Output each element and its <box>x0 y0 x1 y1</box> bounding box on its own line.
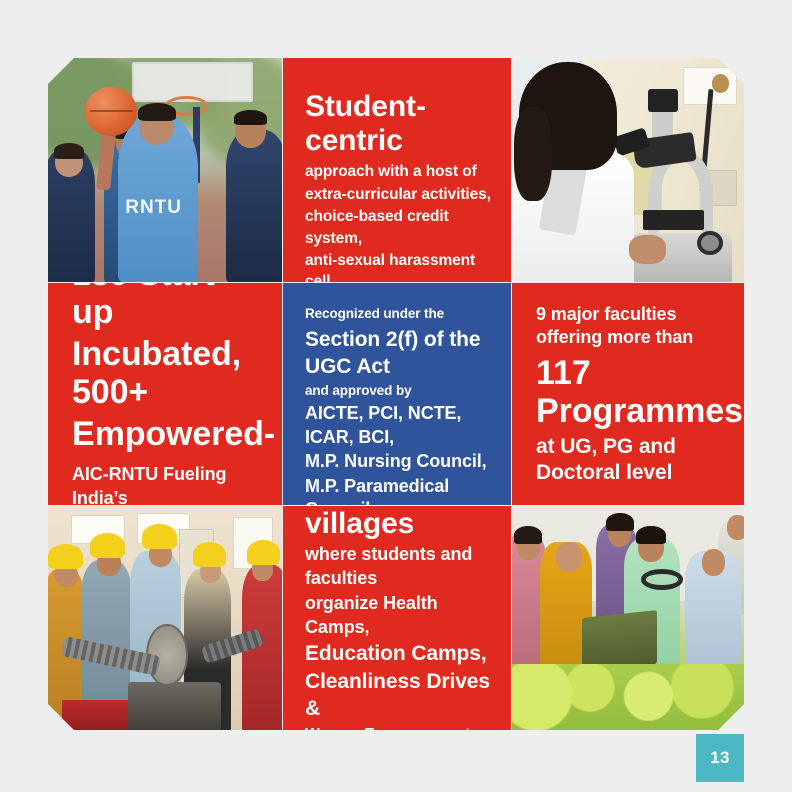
ugc-lead: Recognized under the <box>305 305 493 324</box>
student-centric-headline: Student-centric <box>305 90 491 158</box>
laboratory-microscope-photo <box>512 58 746 282</box>
jersey-text: RNTU <box>125 197 191 219</box>
villages-body: where students and faculties <box>305 543 491 590</box>
person-shape <box>226 130 282 282</box>
programmes-lead: 9 major faculties <box>536 303 726 326</box>
programmes-tail: Doctoral level <box>536 460 726 486</box>
startup-subtext: AIC-RNTU Fueling India’s Innovation Jour… <box>72 463 262 505</box>
programmes-tail: at UG, PG and <box>536 434 726 460</box>
student-centric-body: approach with a host of extra-curricular… <box>305 160 491 282</box>
ugc-title-line: Section 2(f) of the <box>305 327 493 353</box>
headphones-icon <box>641 569 683 589</box>
brochure-page: RNTU Student-centric approach with a hos… <box>0 0 792 792</box>
villages-body: organize Health Camps, <box>305 592 491 639</box>
person-hair-shape <box>514 107 551 201</box>
student-centric-panel: Student-centric approach with a host of … <box>283 58 511 282</box>
person-hair-shape <box>234 110 267 126</box>
person-hair-shape <box>606 513 634 531</box>
hard-hat-icon <box>193 542 226 567</box>
ugc-title-line: UGC Act <box>305 354 493 380</box>
person-hair-shape <box>138 103 175 121</box>
programmes-label: Programmes <box>536 392 726 430</box>
machinery-shape <box>128 682 222 732</box>
basketball-icon <box>85 87 136 136</box>
page-number-badge: 13 <box>696 734 744 782</box>
villages-emphasis: Cleanliness Drives & <box>305 669 491 722</box>
village-adoption-panel: Adopted 5 villages where students and fa… <box>283 506 511 732</box>
hard-hat-icon <box>247 540 280 565</box>
ugc-approver: ICAR, BCI, <box>305 426 493 449</box>
programmes-panel: 9 major faculties offering more than 117… <box>512 283 746 505</box>
person-hair-shape <box>636 526 666 544</box>
sports-basketball-photo: RNTU <box>48 58 282 282</box>
ugc-approver: AICTE, PCI, NCTE, <box>305 402 493 425</box>
programmes-lead: offering more than <box>536 326 726 349</box>
engineering-workshop-photo <box>48 506 282 732</box>
startup-headline: 139 Start-up Incubated, 500+ Empowered- <box>72 283 262 457</box>
ugc-approver: M.P. Nursing Council, <box>305 450 493 473</box>
microscope-focus-knob-shape <box>697 231 723 256</box>
hand-shape <box>629 235 666 264</box>
ugc-approver: M.P. Paramedical Council, <box>305 475 493 505</box>
person-head-shape <box>727 515 746 540</box>
hard-hat-icon <box>142 524 177 549</box>
microscope-stage-shape <box>643 210 704 230</box>
hard-hat-icon <box>90 533 125 558</box>
villages-tail: Women Empowerment Camps <box>305 724 491 732</box>
person-head-shape <box>556 542 582 571</box>
ugc-connector: and approved by <box>305 382 493 401</box>
collage-grid: RNTU Student-centric approach with a hos… <box>48 58 744 730</box>
microscope-camera-shape <box>648 89 678 111</box>
hard-hat-icon <box>48 544 83 569</box>
villages-emphasis: Education Camps, <box>305 641 491 667</box>
programmes-count: 117 <box>536 354 726 392</box>
ugc-recognition-panel: Recognized under the Section 2(f) of the… <box>283 283 511 505</box>
person-head-shape <box>702 549 725 576</box>
person-hair-shape <box>514 526 542 544</box>
startup-incubation-panel: 139 Start-up Incubated, 500+ Empowered- … <box>48 283 282 505</box>
person-hair-shape <box>54 143 84 159</box>
campus-lawn-students-photo <box>512 506 746 732</box>
lawn-foliage-shape <box>512 664 746 732</box>
equipment-cart-shape <box>62 700 132 732</box>
villages-headline: Adopted 5 villages <box>305 506 491 541</box>
